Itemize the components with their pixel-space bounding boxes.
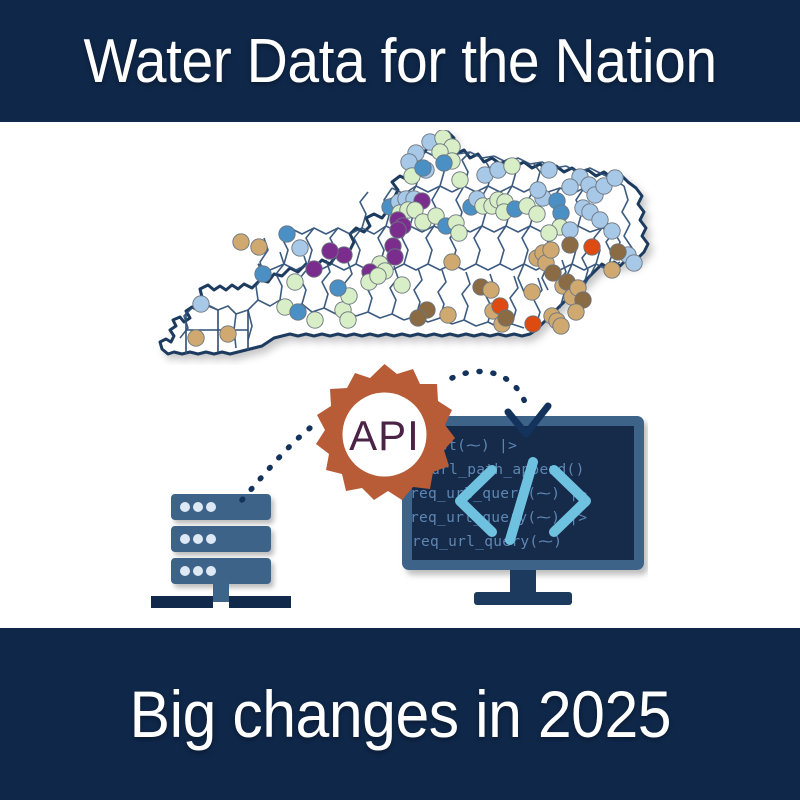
map-marker bbox=[188, 330, 204, 346]
server-led bbox=[193, 534, 203, 544]
map-marker bbox=[607, 170, 623, 186]
map-marker bbox=[255, 266, 271, 282]
map-marker bbox=[444, 254, 460, 270]
map-marker bbox=[410, 310, 426, 326]
map-marker bbox=[530, 182, 546, 198]
server-led bbox=[180, 534, 190, 544]
map-marker bbox=[610, 244, 626, 260]
server-led bbox=[206, 534, 216, 544]
map-marker bbox=[370, 268, 386, 284]
server-led bbox=[193, 502, 203, 512]
map-marker bbox=[626, 255, 642, 271]
map-marker bbox=[287, 274, 303, 290]
map-marker bbox=[387, 249, 403, 265]
monitor-neck bbox=[510, 570, 536, 594]
map-marker bbox=[330, 280, 346, 296]
api-label: API bbox=[349, 412, 420, 459]
map-marker bbox=[604, 223, 620, 239]
map-marker bbox=[306, 261, 322, 277]
map-marker bbox=[604, 262, 620, 278]
map-marker bbox=[504, 158, 520, 174]
map-marker bbox=[390, 222, 406, 238]
map-marker bbox=[541, 225, 557, 241]
server-led bbox=[180, 566, 190, 576]
map-marker bbox=[483, 282, 499, 298]
api-gear: API bbox=[312, 362, 457, 507]
map-marker bbox=[193, 296, 209, 312]
page-title: Water Data for the Nation bbox=[83, 26, 716, 97]
map-marker bbox=[452, 172, 468, 188]
map-marker bbox=[553, 318, 569, 334]
map-marker bbox=[290, 304, 306, 320]
server-led bbox=[193, 566, 203, 576]
page-subtitle: Big changes in 2025 bbox=[129, 676, 671, 752]
code-line: req_url_query(⁓) bbox=[412, 534, 562, 550]
server-stand bbox=[213, 580, 229, 602]
map-marker bbox=[525, 316, 541, 332]
arrow-api-to-monitor bbox=[452, 371, 528, 412]
map-marker bbox=[562, 237, 578, 253]
server-led bbox=[206, 502, 216, 512]
map-marker bbox=[451, 225, 467, 241]
server-base-right bbox=[229, 596, 291, 608]
illustration-stage: quest(⁓) |> eq_url_path_append() req_url… bbox=[0, 122, 800, 628]
map-marker bbox=[340, 312, 356, 328]
map-marker bbox=[562, 222, 578, 238]
map-marker bbox=[307, 312, 323, 328]
map-marker bbox=[541, 162, 557, 178]
top-banner: Water Data for the Nation bbox=[0, 0, 800, 122]
map-marker bbox=[529, 206, 545, 222]
database-server-stack bbox=[145, 480, 295, 610]
kentucky-map bbox=[140, 130, 660, 365]
poster: Water Data for the Nation bbox=[0, 0, 800, 800]
map-marker bbox=[584, 239, 600, 255]
map-marker bbox=[498, 310, 514, 326]
map-marker bbox=[251, 239, 267, 255]
server-led bbox=[180, 502, 190, 512]
map-marker bbox=[394, 277, 410, 293]
map-marker bbox=[279, 226, 295, 242]
map-marker bbox=[436, 155, 452, 171]
map-marker bbox=[562, 179, 578, 195]
server-base-left bbox=[151, 596, 213, 608]
monitor-base bbox=[474, 592, 572, 605]
map-marker bbox=[524, 284, 540, 300]
map-marker bbox=[292, 240, 308, 256]
map-marker bbox=[322, 243, 338, 259]
server-led bbox=[206, 566, 216, 576]
map-marker bbox=[220, 326, 236, 342]
map-marker bbox=[415, 160, 431, 176]
map-marker bbox=[440, 307, 456, 323]
map-marker bbox=[568, 304, 584, 320]
map-marker bbox=[233, 234, 249, 250]
bottom-banner: Big changes in 2025 bbox=[0, 628, 800, 800]
map-marker bbox=[543, 242, 559, 258]
